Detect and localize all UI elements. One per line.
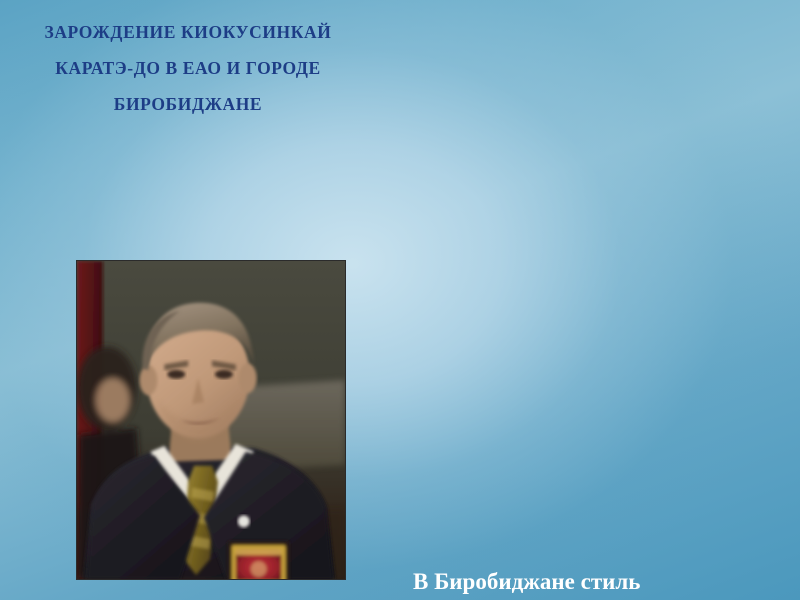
body-line-1: В Биробиджане стиль [413,558,793,600]
slide-canvas: ЗАРОЖДЕНИЕ КИОКУСИНКАЙ КАРАТЭ-ДО В ЕАО И… [0,0,800,600]
portrait-photo [76,260,346,580]
lapel-pin [238,515,250,527]
club-emblem [228,541,290,579]
page-title: ЗАРОЖДЕНИЕ КИОКУСИНКАЙ КАРАТЭ-ДО В ЕАО И… [8,14,368,122]
body-text: В Биробиджане стиль Киокусинкай каратэ-д… [413,558,793,600]
title-line-2: КАРАТЭ-ДО В ЕАО И ГОРОДЕ [8,50,368,86]
title-line-1: ЗАРОЖДЕНИЕ КИОКУСИНКАЙ [8,14,368,50]
portrait-photo-image [77,261,345,579]
title-line-3: БИРОБИДЖАНЕ [8,86,368,122]
